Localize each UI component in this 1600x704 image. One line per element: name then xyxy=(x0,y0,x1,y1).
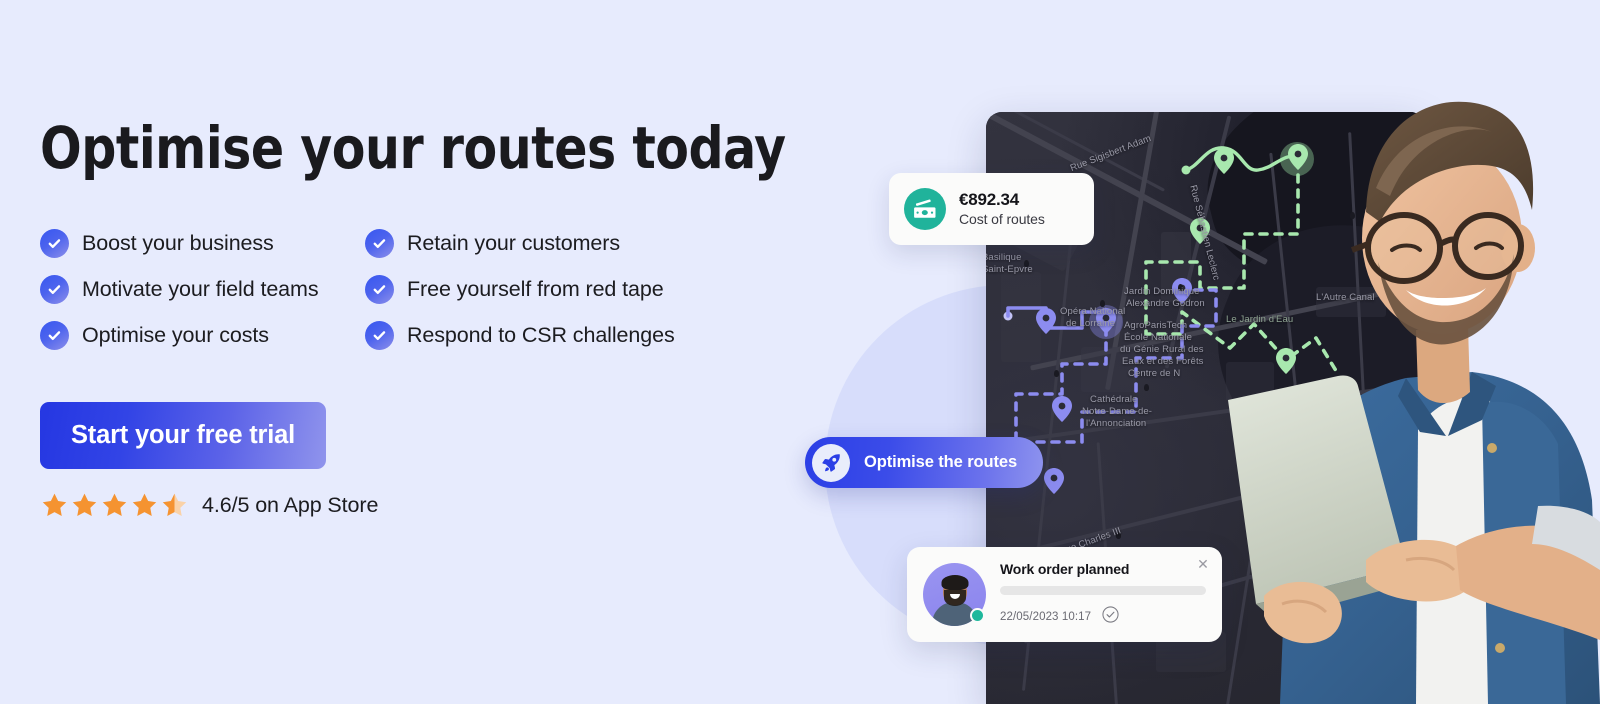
check-icon xyxy=(40,321,69,350)
map-poi-dot xyxy=(1338,408,1343,415)
close-icon[interactable]: ✕ xyxy=(1195,556,1211,572)
hero-section: Optimise your routes today Boost your bu… xyxy=(0,0,1600,704)
map-pin-green[interactable] xyxy=(1276,348,1296,374)
cta-row: Start your free trial xyxy=(40,402,800,469)
map-label: Basilique xyxy=(986,252,1021,264)
avatar-hair xyxy=(941,575,968,590)
page-title: Optimise your routes today xyxy=(40,118,754,179)
work-order-progress-bar xyxy=(1000,586,1206,595)
map-label: Notre-Dame-de- xyxy=(1082,406,1152,418)
map-pin-violet[interactable] xyxy=(1036,308,1056,334)
cost-of-routes-card: €892.34 Cost of routes xyxy=(889,173,1094,245)
map-label: Alexandre Godron xyxy=(1126,298,1205,310)
check-circle-icon xyxy=(1102,606,1119,628)
map-label: École Nationale xyxy=(1124,332,1192,344)
check-icon xyxy=(365,321,394,350)
star-icon xyxy=(130,491,159,520)
benefit-item: Motivate your field teams xyxy=(40,275,365,304)
map-label: Centre de N xyxy=(1128,368,1180,380)
rating-label: 4.6/5 on App Store xyxy=(202,493,378,518)
map-label: Le Jardin d'Eau xyxy=(1226,314,1293,326)
cost-amount: €892.34 xyxy=(959,189,1045,210)
map-pin-green[interactable] xyxy=(1288,144,1308,170)
map-poi-dot xyxy=(1350,212,1355,219)
cost-caption: Cost of routes xyxy=(959,210,1045,229)
star-rating xyxy=(40,491,189,520)
rocket-icon xyxy=(812,444,850,482)
work-order-date: 22/05/2023 10:17 xyxy=(1000,611,1091,623)
benefit-item: Free yourself from red tape xyxy=(365,275,760,304)
benefit-label: Respond to CSR challenges xyxy=(407,323,675,348)
map-label: Jardin Dominique xyxy=(1124,286,1200,298)
work-order-meta: 22/05/2023 10:17 xyxy=(1000,606,1206,628)
star-icon xyxy=(70,491,99,520)
map-label: du Génie Rural des xyxy=(1120,344,1204,356)
map-label: l'Annonciation xyxy=(1086,418,1146,430)
benefits-list: Boost your business Retain your customer… xyxy=(40,229,760,350)
benefit-item: Boost your business xyxy=(40,229,365,258)
work-order-title: Work order planned xyxy=(1000,561,1206,577)
benefit-label: Boost your business xyxy=(82,231,274,256)
avatar xyxy=(923,563,986,626)
start-free-trial-button[interactable]: Start your free trial xyxy=(40,402,326,469)
cost-text-group: €892.34 Cost of routes xyxy=(959,189,1045,229)
banknotes-icon xyxy=(904,188,946,230)
work-order-body: Work order planned 22/05/2023 10:17 xyxy=(1000,561,1206,628)
map-pin-green[interactable] xyxy=(1214,148,1234,174)
check-icon xyxy=(365,275,394,304)
map-label: Opéra National xyxy=(1060,306,1125,318)
benefit-label: Free yourself from red tape xyxy=(407,277,664,302)
optimise-routes-label: Optimise the routes xyxy=(864,453,1017,472)
online-status-dot xyxy=(970,608,985,623)
map-pin-violet[interactable] xyxy=(1044,468,1064,494)
map-pin-violet[interactable] xyxy=(1052,396,1072,422)
map-label: Eaux et des Forêts xyxy=(1122,356,1204,368)
check-icon xyxy=(40,275,69,304)
benefit-item: Retain your customers xyxy=(365,229,760,258)
map-label: Cathédrale xyxy=(1090,394,1137,406)
map-label: AgroParisTech xyxy=(1124,320,1187,332)
hero-content: Optimise your routes today Boost your bu… xyxy=(40,118,800,520)
map-poi-dot xyxy=(1054,370,1059,377)
star-icon xyxy=(40,491,69,520)
map-label: Saint-Epvre xyxy=(986,264,1033,276)
map-label: de Lorraine xyxy=(1066,318,1115,330)
star-half-icon xyxy=(160,491,189,520)
benefit-label: Motivate your field teams xyxy=(82,277,319,302)
work-order-card: Work order planned 22/05/2023 10:17 ✕ xyxy=(907,547,1222,642)
check-icon xyxy=(365,229,394,258)
check-icon xyxy=(40,229,69,258)
benefit-label: Optimise your costs xyxy=(82,323,269,348)
benefit-label: Retain your customers xyxy=(407,231,620,256)
map-poi-dot xyxy=(1144,384,1149,391)
rating-row: 4.6/5 on App Store xyxy=(40,491,800,520)
map-label: L'Autre Canal xyxy=(1316,292,1375,304)
benefit-item: Respond to CSR challenges xyxy=(365,321,760,350)
benefit-item: Optimise your costs xyxy=(40,321,365,350)
hero-visual: Rue Sigisbert Adam Rue Sébastien Leclerc… xyxy=(800,0,1600,704)
star-icon xyxy=(100,491,129,520)
optimise-routes-button[interactable]: Optimise the routes xyxy=(805,437,1043,488)
